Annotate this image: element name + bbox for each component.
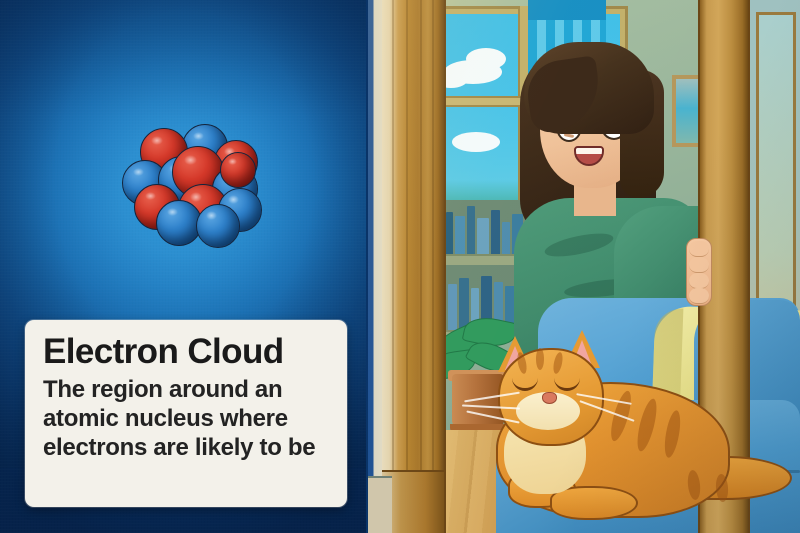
girl-teeth	[576, 148, 602, 154]
finger	[689, 273, 709, 289]
proton-sphere	[220, 152, 256, 188]
cloud	[452, 132, 500, 152]
cat-nose	[542, 392, 557, 404]
card-title: Electron Cloud	[43, 334, 331, 370]
book	[448, 284, 457, 332]
definition-card: Electron Cloud The region around an atom…	[25, 320, 347, 507]
book	[491, 210, 500, 258]
illustration-canvas: Electron Cloud The region around an atom…	[0, 0, 800, 533]
baseboard	[368, 476, 392, 533]
finger	[689, 257, 709, 273]
neutron-sphere	[196, 204, 240, 248]
book	[467, 206, 475, 258]
ghibli-room-panel	[368, 0, 800, 533]
book	[446, 212, 453, 258]
card-body-text: The region around an atomic nucleus wher…	[43, 376, 331, 462]
cat-head-stripe	[536, 348, 544, 370]
wood-grain-line	[406, 0, 408, 533]
finger	[689, 241, 709, 257]
wood-grain-line	[432, 0, 434, 533]
curtain-rod-top	[528, 0, 606, 20]
electron-cloud-panel: Electron Cloud The region around an atom…	[0, 0, 368, 533]
book	[455, 216, 465, 258]
wood-grain-line	[420, 0, 422, 533]
finger	[689, 288, 709, 304]
plant-pot	[452, 374, 504, 430]
book	[502, 222, 510, 258]
door-jamb-left	[382, 0, 446, 533]
cloud	[466, 48, 506, 70]
wood-grain-line	[392, 0, 394, 533]
girl-hand	[686, 238, 712, 306]
atomic-nucleus	[118, 122, 254, 258]
book	[477, 218, 489, 258]
